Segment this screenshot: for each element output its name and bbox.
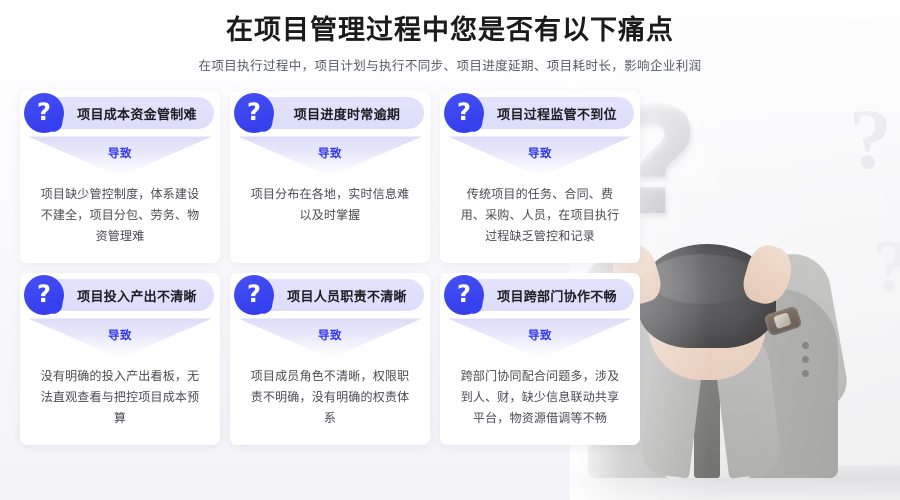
card-title: 项目成本资金管制难 — [77, 104, 197, 123]
badge-question-glyph: ? — [24, 275, 64, 315]
card-title-pill: 项目跨部门协作不畅 — [458, 279, 634, 311]
ghost-question-mark-icon: ? — [849, 96, 892, 182]
arrow-label: 导致 — [230, 327, 430, 343]
card-header: 项目成本资金管制难 ? — [20, 91, 220, 135]
card-header: 项目进度时常逾期 ? — [230, 91, 430, 135]
card-arrow: 导致 — [230, 318, 430, 360]
arrow-label: 导致 — [440, 327, 640, 343]
badge-question-glyph: ? — [234, 93, 274, 133]
card-body-text: 跨部门协同配合问题多，涉及到人、财，缺少信息联动共享平台，物资源借调等不畅 — [440, 360, 640, 428]
card-body-text: 项目成员角色不清晰，权限职责不明确，没有明确的权责体系 — [230, 360, 430, 428]
arrow-label: 导致 — [440, 145, 640, 161]
page-title: 在项目管理过程中您是否有以下痛点 — [0, 12, 900, 48]
card-body-text: 项目缺少管控制度，体系建设不建全，项目分包、劳务、物资管理难 — [20, 178, 220, 246]
card-title-pill: 项目投入产出不清晰 — [38, 279, 214, 311]
card-arrow: 导致 — [20, 136, 220, 178]
card-title-pill: 项目人员职责不清晰 — [248, 279, 424, 311]
question-mark-badge-icon: ? — [234, 93, 274, 133]
pain-point-card[interactable]: 项目投入产出不清晰 ? 导致 没有明确的投入产出看板，无法直观查看与把控项目成本… — [20, 273, 220, 445]
arrow-label: 导致 — [230, 145, 430, 161]
card-header: 项目投入产出不清晰 ? — [20, 273, 220, 317]
pain-point-card[interactable]: 项目进度时常逾期 ? 导致 项目分布在各地，实时信息难以及时掌握 — [230, 91, 430, 263]
arrow-label: 导致 — [20, 145, 220, 161]
card-header: 项目人员职责不清晰 ? — [230, 273, 430, 317]
card-arrow: 导致 — [20, 318, 220, 360]
card-title: 项目跨部门协作不畅 — [497, 286, 617, 305]
card-body-text: 没有明确的投入产出看板，无法直观查看与把控项目成本预算 — [20, 360, 220, 428]
card-header: 项目过程监管不到位 ? — [440, 91, 640, 135]
pain-point-card[interactable]: 项目过程监管不到位 ? 导致 传统项目的任务、合同、费用、采购、人员，在项目执行… — [440, 91, 640, 263]
page-header: 在项目管理过程中您是否有以下痛点 在项目执行过程中，项目计划与执行不同步、项目进… — [0, 0, 900, 74]
card-title-pill: 项目过程监管不到位 — [458, 97, 634, 129]
sleeve-buttons — [802, 342, 812, 388]
badge-question-glyph: ? — [444, 275, 484, 315]
badge-question-glyph: ? — [444, 93, 484, 133]
card-arrow: 导致 — [440, 318, 640, 360]
question-mark-badge-icon: ? — [444, 275, 484, 315]
question-mark-badge-icon: ? — [24, 93, 64, 133]
card-title-pill: 项目进度时常逾期 — [248, 97, 424, 129]
pain-point-card[interactable]: 项目成本资金管制难 ? 导致 项目缺少管控制度，体系建设不建全，项目分包、劳务、… — [20, 91, 220, 263]
card-arrow: 导致 — [440, 136, 640, 178]
card-title-pill: 项目成本资金管制难 — [38, 97, 214, 129]
arrow-label: 导致 — [20, 327, 220, 343]
badge-question-glyph: ? — [234, 275, 274, 315]
question-mark-badge-icon: ? — [234, 275, 274, 315]
card-title: 项目投入产出不清晰 — [77, 286, 197, 305]
question-mark-badge-icon: ? — [24, 275, 64, 315]
pain-point-card[interactable]: 项目人员职责不清晰 ? 导致 项目成员角色不清晰，权限职责不明确，没有明确的权责… — [230, 273, 430, 445]
card-title: 项目过程监管不到位 — [497, 104, 617, 123]
question-mark-badge-icon: ? — [444, 93, 484, 133]
card-arrow: 导致 — [230, 136, 430, 178]
page-subtitle: 在项目执行过程中，项目计划与执行不同步、项目进度延期、项目耗时长，影响企业利润 — [0, 55, 900, 74]
badge-question-glyph: ? — [24, 93, 64, 133]
pain-point-card-grid: 项目成本资金管制难 ? 导致 项目缺少管控制度，体系建设不建全，项目分包、劳务、… — [20, 91, 660, 445]
card-body-text: 传统项目的任务、合同、费用、采购、人员，在项目执行过程缺乏管控和记录 — [440, 178, 640, 246]
card-body-text: 项目分布在各地，实时信息难以及时掌握 — [230, 178, 430, 225]
pain-point-card[interactable]: 项目跨部门协作不畅 ? 导致 跨部门协同配合问题多，涉及到人、财，缺少信息联动共… — [440, 273, 640, 445]
page-root: ? ? ? ? 在项目管理过程中您是否有以下痛点 在项目执行过程中，项目计划与执… — [0, 0, 900, 500]
card-header: 项目跨部门协作不畅 ? — [440, 273, 640, 317]
card-title: 项目进度时常逾期 — [294, 104, 400, 123]
card-title: 项目人员职责不清晰 — [287, 286, 407, 305]
